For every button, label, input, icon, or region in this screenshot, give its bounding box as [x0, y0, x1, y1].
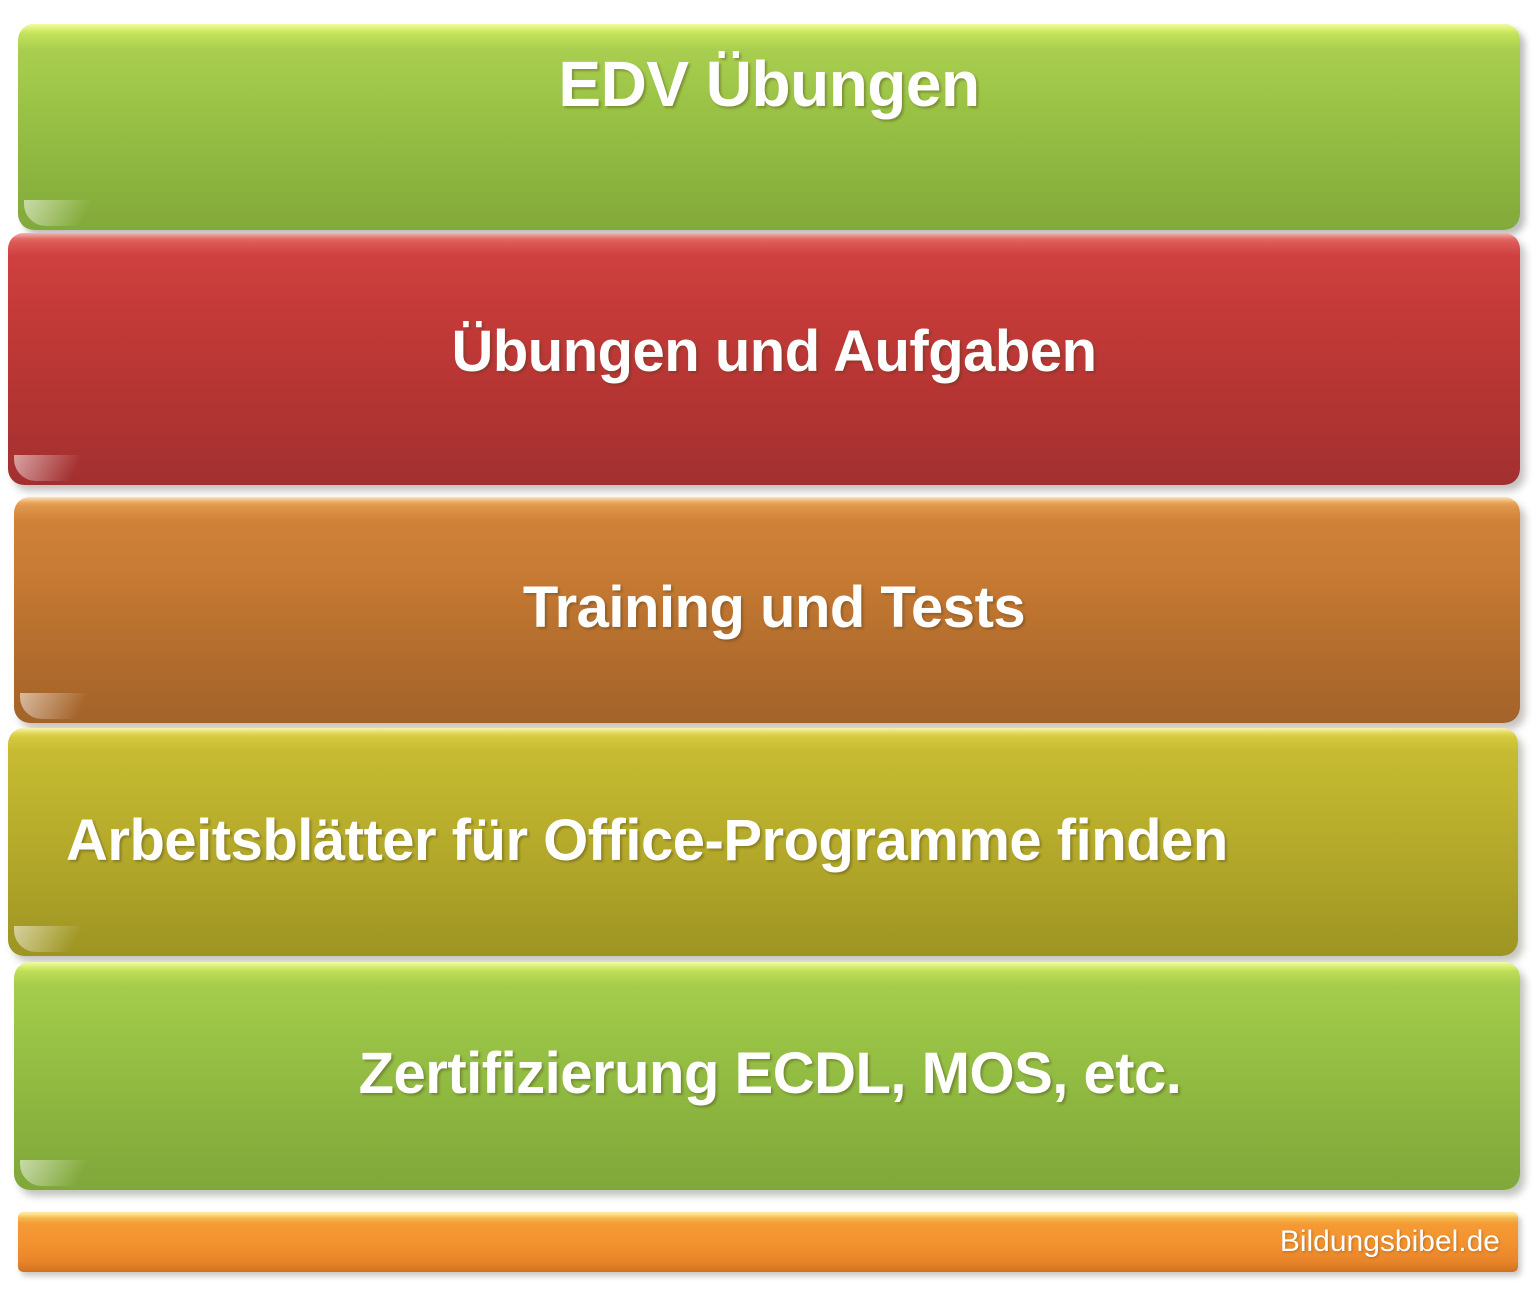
banner-bar-training-und-tests: Training und Tests — [14, 497, 1520, 723]
banner-title-text: EDV Übungen — [18, 47, 1520, 207]
banner-item-text: Training und Tests — [14, 574, 1520, 647]
footer-bar: Bildungsbibel.de — [18, 1212, 1518, 1272]
banner-item-text: Zertifizierung ECDL, MOS, etc. — [14, 1040, 1520, 1113]
banner-bar-arbeitsblaetter: Arbeitsblätter für Office-Programme find… — [8, 728, 1518, 956]
banner-bar-uebungen-und-aufgaben: Übungen und Aufgaben — [8, 233, 1520, 485]
banner-bar-title: EDV Übungen — [18, 24, 1520, 230]
banner-item-text: Arbeitsblätter für Office-Programme find… — [8, 807, 1518, 878]
banner-item-text: Übungen und Aufgaben — [8, 318, 1520, 401]
footer-watermark-text: Bildungsbibel.de — [1280, 1225, 1518, 1259]
banner-bar-zertifizierung: Zertifizierung ECDL, MOS, etc. — [14, 962, 1520, 1190]
infographic-canvas: EDV Übungen Übungen und Aufgaben Trainin… — [0, 0, 1536, 1296]
